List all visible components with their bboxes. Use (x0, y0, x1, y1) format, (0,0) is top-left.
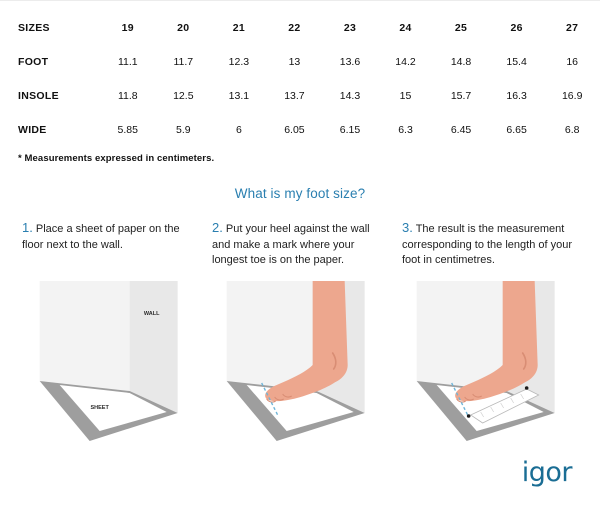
illustration-panel-3 (397, 273, 590, 448)
step-number: 2. (212, 220, 223, 235)
measurement-cell: 6.3 (378, 113, 434, 147)
right-wall-surface (130, 281, 178, 413)
row-label: FOOT (0, 45, 100, 79)
foot-measure-diagram (397, 273, 590, 448)
measurement-cell: 6.8 (544, 113, 600, 147)
measurement-cell: 16 (544, 45, 600, 79)
measurement-footnote: * Measurements expressed in centimeters. (0, 153, 600, 164)
size-header-cell: 22 (267, 11, 323, 45)
step-text-wrapper: 3. The result is the measurement corresp… (402, 219, 578, 269)
ruler-start-dot (467, 414, 471, 418)
measurement-cell: 14.8 (433, 45, 489, 79)
measurement-cell: 11.1 (100, 45, 156, 79)
row-label: WIDE (0, 113, 100, 147)
foot-mark-diagram (203, 273, 396, 448)
measurement-cell: 16.3 (489, 79, 545, 113)
igor-logo: igor (522, 459, 572, 486)
measurement-cell: 14.3 (322, 79, 378, 113)
measurement-cell: 13.7 (267, 79, 323, 113)
measurement-cell: 5.9 (156, 113, 212, 147)
measurement-cell: 15.7 (433, 79, 489, 113)
measurement-cell: 6.65 (489, 113, 545, 147)
size-header-cell: 20 (156, 11, 212, 45)
size-header-cell: 21 (211, 11, 267, 45)
measurement-cell: 11.7 (156, 45, 212, 79)
guide-steps: 1. Place a sheet of paper on the floor n… (0, 219, 600, 269)
measurement-cell: 6.05 (267, 113, 323, 147)
size-header-cell: 19 (100, 11, 156, 45)
measurement-cell: 12.3 (211, 45, 267, 79)
illustration-panel-2 (203, 273, 396, 448)
step-description: The result is the measurement correspond… (402, 223, 572, 266)
measurement-cell: 14.2 (378, 45, 434, 79)
illustration-panel-1: WALL SHEET (10, 273, 203, 448)
table-row: FOOT 11.1 11.7 12.3 13 13.6 14.2 14.8 15… (0, 45, 600, 79)
table-head: SIZES 19 20 21 22 23 24 25 26 27 (0, 11, 600, 45)
ruler-end-dot (525, 386, 529, 390)
room-sheet-diagram: WALL SHEET (10, 273, 203, 448)
guide-step: 3. The result is the measurement corresp… (402, 219, 578, 269)
step-text-wrapper: 2. Put your heel against the wall and ma… (212, 219, 388, 269)
measurement-cell: 6 (211, 113, 267, 147)
step-description: Place a sheet of paper on the floor next… (22, 223, 180, 251)
measurement-cell: 13.6 (322, 45, 378, 79)
size-header-cell: 24 (378, 11, 434, 45)
row-label: INSOLE (0, 79, 100, 113)
step-number: 3. (402, 220, 413, 235)
guide-title: What is my foot size? (0, 186, 600, 201)
wall-label: WALL (144, 311, 160, 317)
table-row: WIDE 5.85 5.9 6 6.05 6.15 6.3 6.45 6.65 … (0, 113, 600, 147)
step-text-wrapper: 1. Place a sheet of paper on the floor n… (22, 219, 198, 253)
table-row: INSOLE 11.8 12.5 13.1 13.7 14.3 15 15.7 … (0, 79, 600, 113)
measurement-cell: 5.85 (100, 113, 156, 147)
table-header-row: SIZES 19 20 21 22 23 24 25 26 27 (0, 11, 600, 45)
table-corner-header: SIZES (0, 11, 100, 45)
measurement-cell: 13.1 (211, 79, 267, 113)
foot-size-guide: What is my foot size? 1. Place a sheet o… (0, 186, 600, 448)
sheet-label: SHEET (90, 405, 109, 411)
step-description: Put your heel against the wall and make … (212, 223, 370, 266)
measurement-cell: 15.4 (489, 45, 545, 79)
measurement-cell: 13 (267, 45, 323, 79)
measurement-cell: 11.8 (100, 79, 156, 113)
left-wall-surface (40, 281, 130, 391)
measurement-cell: 16.9 (544, 79, 600, 113)
measurement-cell: 15 (378, 79, 434, 113)
size-header-cell: 25 (433, 11, 489, 45)
size-header-cell: 23 (322, 11, 378, 45)
illustration-row: WALL SHEET (0, 273, 600, 448)
size-chart-page: SIZES 19 20 21 22 23 24 25 26 27 FOOT 11… (0, 0, 600, 508)
step-number: 1. (22, 220, 33, 235)
guide-step: 2. Put your heel against the wall and ma… (212, 219, 388, 269)
measurement-cell: 6.15 (322, 113, 378, 147)
size-header-cell: 27 (544, 11, 600, 45)
size-table: SIZES 19 20 21 22 23 24 25 26 27 FOOT 11… (0, 11, 600, 147)
table-body: FOOT 11.1 11.7 12.3 13 13.6 14.2 14.8 15… (0, 45, 600, 147)
measurement-cell: 6.45 (433, 113, 489, 147)
guide-step: 1. Place a sheet of paper on the floor n… (22, 219, 198, 269)
measurement-cell: 12.5 (156, 79, 212, 113)
size-header-cell: 26 (489, 11, 545, 45)
